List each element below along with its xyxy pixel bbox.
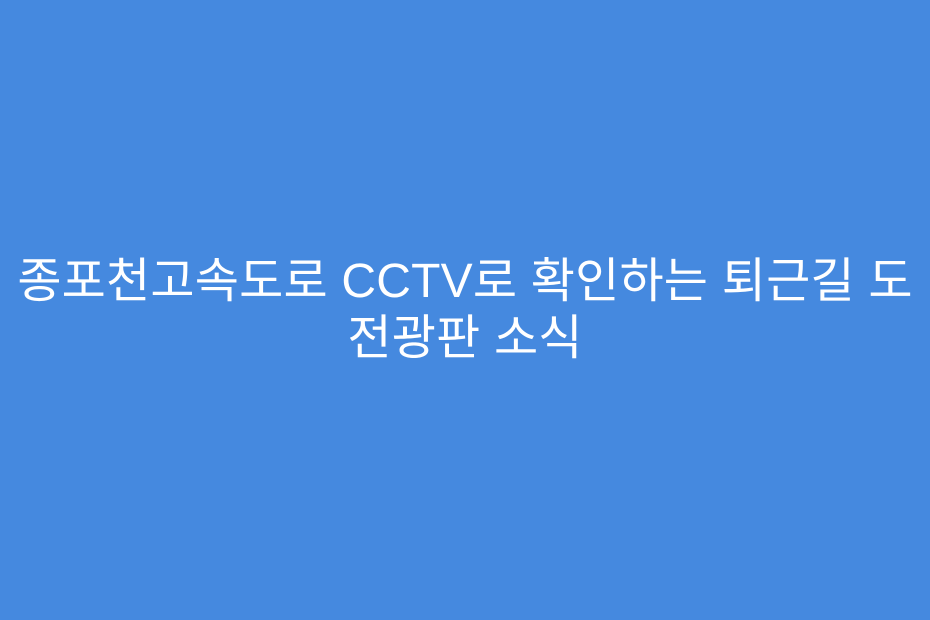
thumbnail-card: 종포천고속도로 CCTV로 확인하는 퇴근길 도 전광판 소식	[0, 0, 930, 620]
title-line-1: 종포천고속도로 CCTV로 확인하는 퇴근길 도	[0, 253, 930, 310]
title-line-2: 전광판 소식	[0, 310, 930, 367]
page-title: 종포천고속도로 CCTV로 확인하는 퇴근길 도 전광판 소식	[0, 253, 930, 367]
